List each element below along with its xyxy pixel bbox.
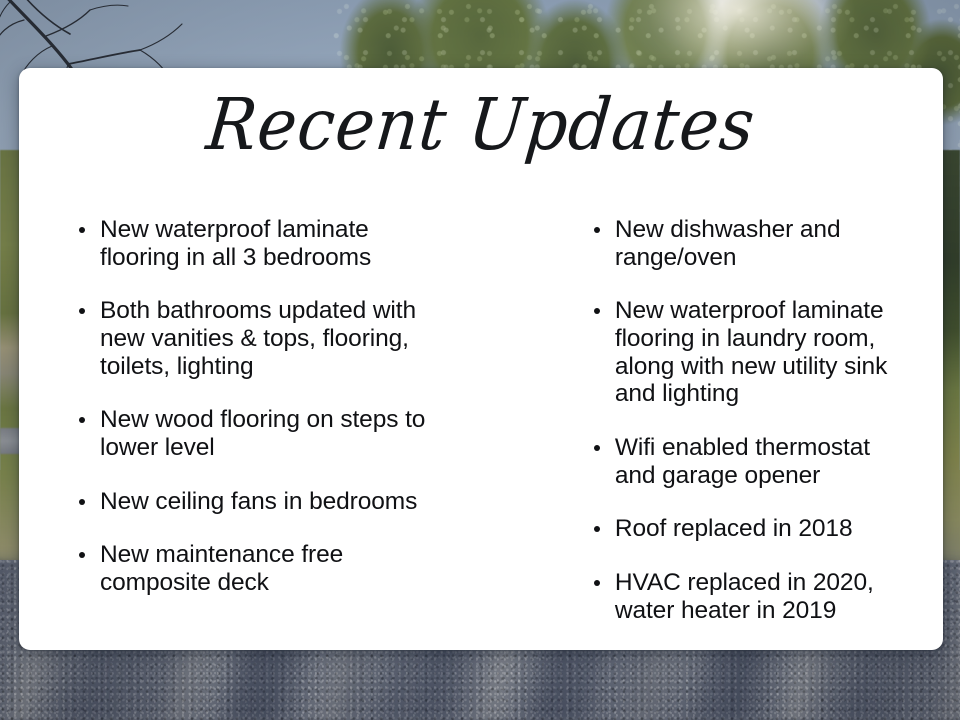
list-item: New maintenance free composite deck — [77, 541, 518, 596]
right-column: New dishwasher and range/oven New waterp… — [528, 216, 927, 624]
right-bullet-list: New dishwasher and range/oven New waterp… — [592, 216, 927, 624]
list-item: New ceiling fans in bedrooms — [77, 488, 518, 516]
list-item: Wifi enabled thermostat and garage opene… — [592, 434, 927, 489]
list-item: New dishwasher and range/oven — [592, 216, 927, 271]
page-title: Recent Updates — [19, 83, 943, 166]
left-bullet-list: New waterproof laminate flooring in all … — [77, 216, 518, 597]
list-item: New waterproof laminate flooring in all … — [77, 216, 518, 271]
slide-canvas: Recent Updates New waterproof laminate f… — [0, 0, 960, 720]
list-item: HVAC replaced in 2020, water heater in 2… — [592, 569, 927, 624]
updates-card: Recent Updates New waterproof laminate f… — [19, 68, 943, 650]
bullet-columns: New waterproof laminate flooring in all … — [19, 216, 943, 624]
list-item: Both bathrooms updated with new vanities… — [77, 297, 518, 380]
list-item: Roof replaced in 2018 — [592, 515, 927, 543]
left-column: New waterproof laminate flooring in all … — [77, 216, 528, 624]
list-item: New waterproof laminate flooring in laun… — [592, 297, 927, 408]
list-item: New wood flooring on steps to lower leve… — [77, 406, 518, 461]
